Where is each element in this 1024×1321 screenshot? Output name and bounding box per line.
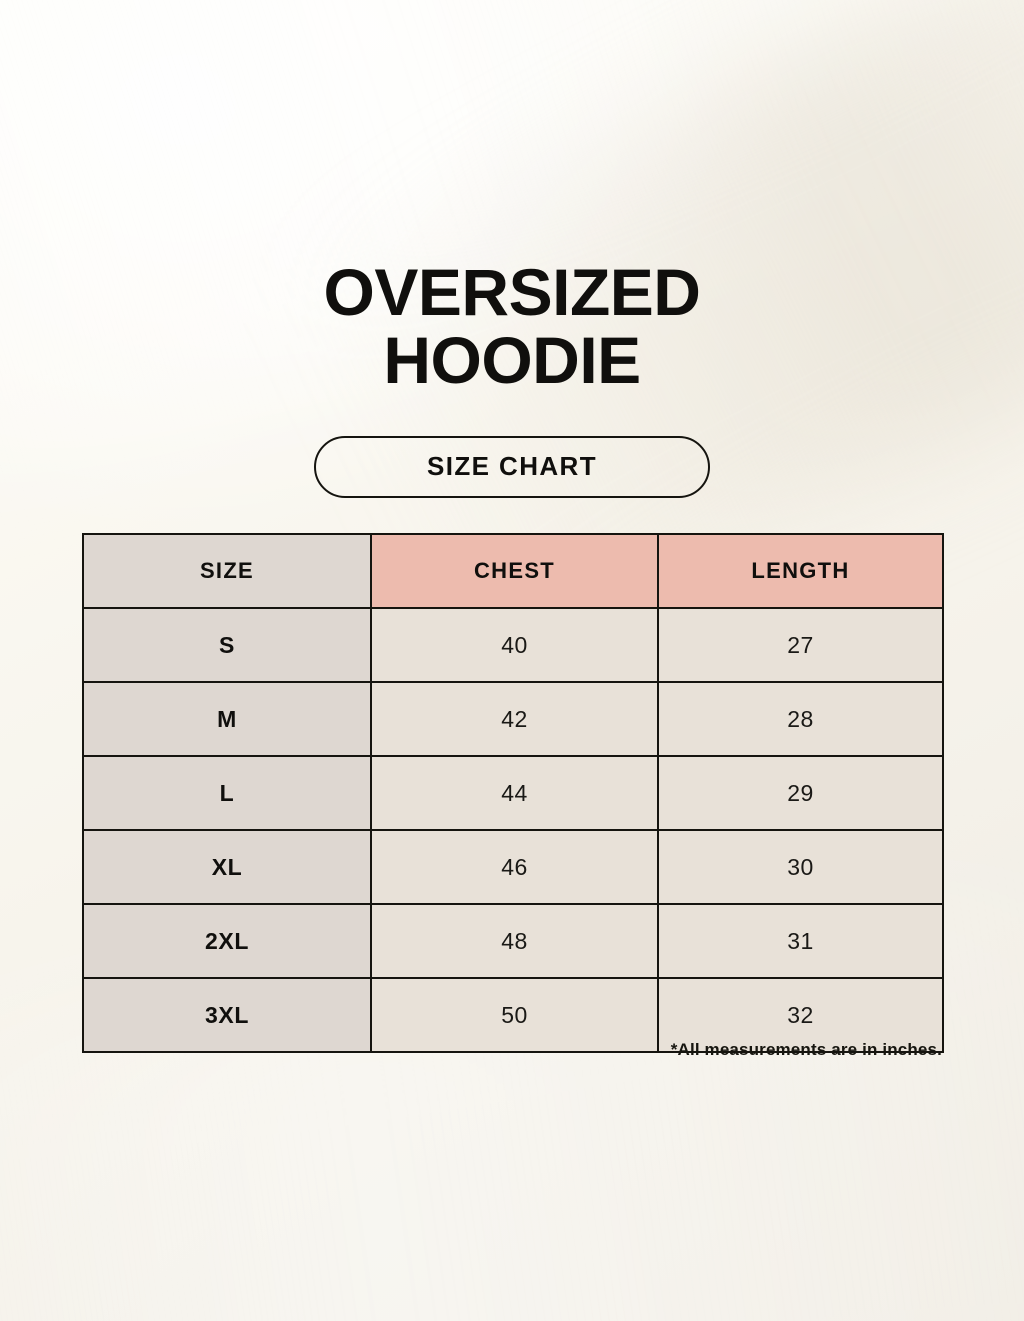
- poster-content: OVERSIZED HOODIE SIZE CHART SIZE CHEST L…: [0, 0, 1024, 1321]
- cell-length: 31: [658, 904, 943, 978]
- table-row: M 42 28: [83, 682, 943, 756]
- column-header-length: LENGTH: [658, 534, 943, 608]
- column-header-chest: CHEST: [371, 534, 658, 608]
- size-chart-table-container: SIZE CHEST LENGTH S 40 27 M 42 28: [82, 533, 942, 1053]
- cell-chest: 40: [371, 608, 658, 682]
- cell-chest: 46: [371, 830, 658, 904]
- page-title: OVERSIZED HOODIE: [0, 258, 1024, 394]
- cell-chest: 42: [371, 682, 658, 756]
- table-row: 2XL 48 31: [83, 904, 943, 978]
- cell-chest: 44: [371, 756, 658, 830]
- table-header: SIZE CHEST LENGTH: [83, 534, 943, 608]
- cell-length: 29: [658, 756, 943, 830]
- cell-size: S: [83, 608, 371, 682]
- cell-chest: 48: [371, 904, 658, 978]
- page-title-line-2: HOODIE: [0, 326, 1024, 394]
- cell-length: 27: [658, 608, 943, 682]
- cell-size: 2XL: [83, 904, 371, 978]
- cell-size: M: [83, 682, 371, 756]
- cell-size: XL: [83, 830, 371, 904]
- poster-canvas: OVERSIZED HOODIE SIZE CHART SIZE CHEST L…: [0, 0, 1024, 1321]
- page-title-line-1: OVERSIZED: [0, 258, 1024, 326]
- table-header-row: SIZE CHEST LENGTH: [83, 534, 943, 608]
- size-chart-badge: SIZE CHART: [314, 436, 710, 498]
- cell-size: L: [83, 756, 371, 830]
- table-row: S 40 27: [83, 608, 943, 682]
- table-row: XL 46 30: [83, 830, 943, 904]
- size-chart-table: SIZE CHEST LENGTH S 40 27 M 42 28: [82, 533, 944, 1053]
- column-header-size: SIZE: [83, 534, 371, 608]
- cell-length: 30: [658, 830, 943, 904]
- measurements-footnote: *All measurements are in inches.: [82, 1040, 942, 1060]
- table-body: S 40 27 M 42 28 L 44 29 XL: [83, 608, 943, 1052]
- table-row: L 44 29: [83, 756, 943, 830]
- size-chart-badge-container: SIZE CHART: [0, 436, 1024, 498]
- cell-length: 28: [658, 682, 943, 756]
